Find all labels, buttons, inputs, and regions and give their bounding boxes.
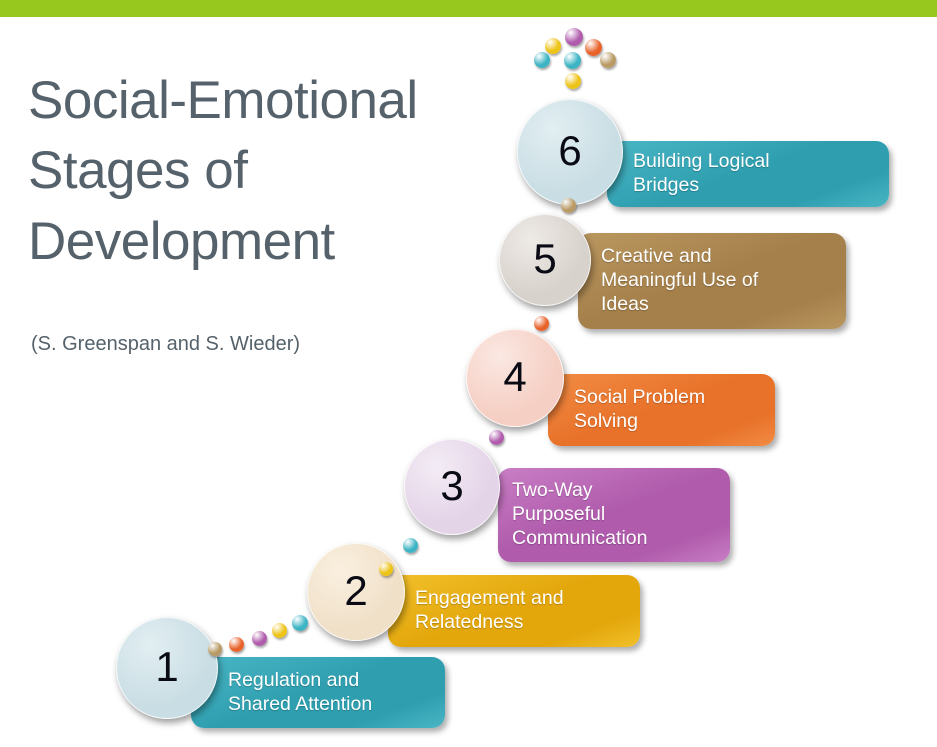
page-title: Social-Emotional Stages of Development [28,66,498,277]
stage-circle-6[interactable]: 6 [517,99,623,205]
decorative-dot-teal [292,615,308,631]
decorative-dot-teal [403,538,418,553]
stage-badge-label-2: Engagement and Relatedness [415,587,564,635]
stage-circle-5[interactable]: 5 [499,214,591,306]
stage-circle-4[interactable]: 4 [466,329,564,427]
decorative-dot-teal [534,52,550,68]
stage-badge-6[interactable]: Building Logical Bridges [607,141,889,207]
stage-badge-4[interactable]: Social Problem Solving [548,374,775,446]
stage-number-5: 5 [533,238,556,280]
stage-badge-label-4: Social Problem Solving [574,386,705,434]
stage-badge-label-6: Building Logical Bridges [633,150,770,198]
slide-canvas: Social-Emotional Stages of Development (… [0,0,937,747]
stage-number-1: 1 [155,646,178,688]
decorative-dot-yellow [379,562,393,576]
decorative-dot-teal [564,52,581,69]
decorative-dot-purple [252,631,267,646]
decorative-dot-tan [600,52,616,68]
decorative-dot-orange [585,39,602,56]
decorative-dot-orange [229,637,244,652]
decorative-dot-purple [565,28,583,46]
decorative-dot-orange [534,316,549,331]
accent-bar [0,0,937,17]
stage-badge-label-3: Two-Way Purposeful Communication [512,479,647,550]
stage-number-4: 4 [503,356,526,398]
decorative-dot-yellow [272,623,287,638]
stage-circle-1[interactable]: 1 [116,617,218,719]
decorative-dot-purple [489,430,504,445]
decorative-dot-tan [561,198,576,213]
stage-circle-3[interactable]: 3 [404,439,500,535]
stage-circle-2[interactable]: 2 [307,543,405,641]
stage-number-2: 2 [344,570,367,612]
stage-badge-3[interactable]: Two-Way Purposeful Communication [498,468,730,562]
page-subtitle: (S. Greenspan and S. Wieder) [31,332,461,356]
stage-badge-1[interactable]: Regulation and Shared Attention [191,657,445,728]
decorative-dot-yellow [545,38,561,54]
stage-number-6: 6 [558,130,581,172]
decorative-dot-tan [208,642,222,656]
stage-badge-label-1: Regulation and Shared Attention [228,669,372,717]
decorative-dot-yellow [565,73,581,89]
stage-badge-5[interactable]: Creative and Meaningful Use of Ideas [578,233,846,329]
stage-number-3: 3 [440,465,463,507]
stage-badge-2[interactable]: Engagement and Relatedness [388,575,640,647]
stage-badge-label-5: Creative and Meaningful Use of Ideas [601,245,758,316]
